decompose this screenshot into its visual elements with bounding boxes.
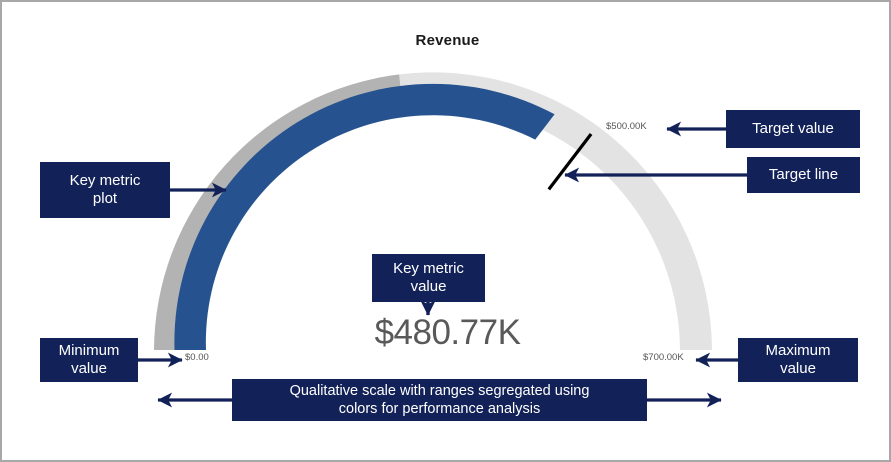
callout-key-metric-plot[interactable]: Key metric plot (40, 162, 170, 218)
axis-label-maximum: $700.00K (643, 352, 684, 363)
callout-target-line[interactable]: Target line (747, 157, 860, 193)
gauge-chart-figure: Revenue $0.00 $700.00K $500.00K $480.77K (0, 0, 891, 462)
callout-qualitative-scale-label: Qualitative scale with ranges segregated… (290, 382, 590, 418)
callout-maximum-value-label: Maximum value (765, 342, 830, 377)
callout-minimum-value[interactable]: Minimum value (40, 338, 138, 382)
callout-key-metric-value[interactable]: Key metric value (372, 254, 485, 302)
key-metric-arc (174, 84, 554, 350)
callout-maximum-value[interactable]: Maximum value (738, 338, 858, 382)
callout-qualitative-scale[interactable]: Qualitative scale with ranges segregated… (232, 379, 647, 421)
callout-key-metric-plot-label: Key metric plot (70, 172, 141, 207)
callout-minimum-value-label: Minimum value (59, 342, 120, 377)
callout-key-metric-value-label: Key metric value (393, 260, 464, 295)
axis-label-target: $500.00K (606, 121, 647, 132)
axis-label-minimum: $0.00 (185, 352, 209, 363)
callout-target-value[interactable]: Target value (726, 110, 860, 148)
